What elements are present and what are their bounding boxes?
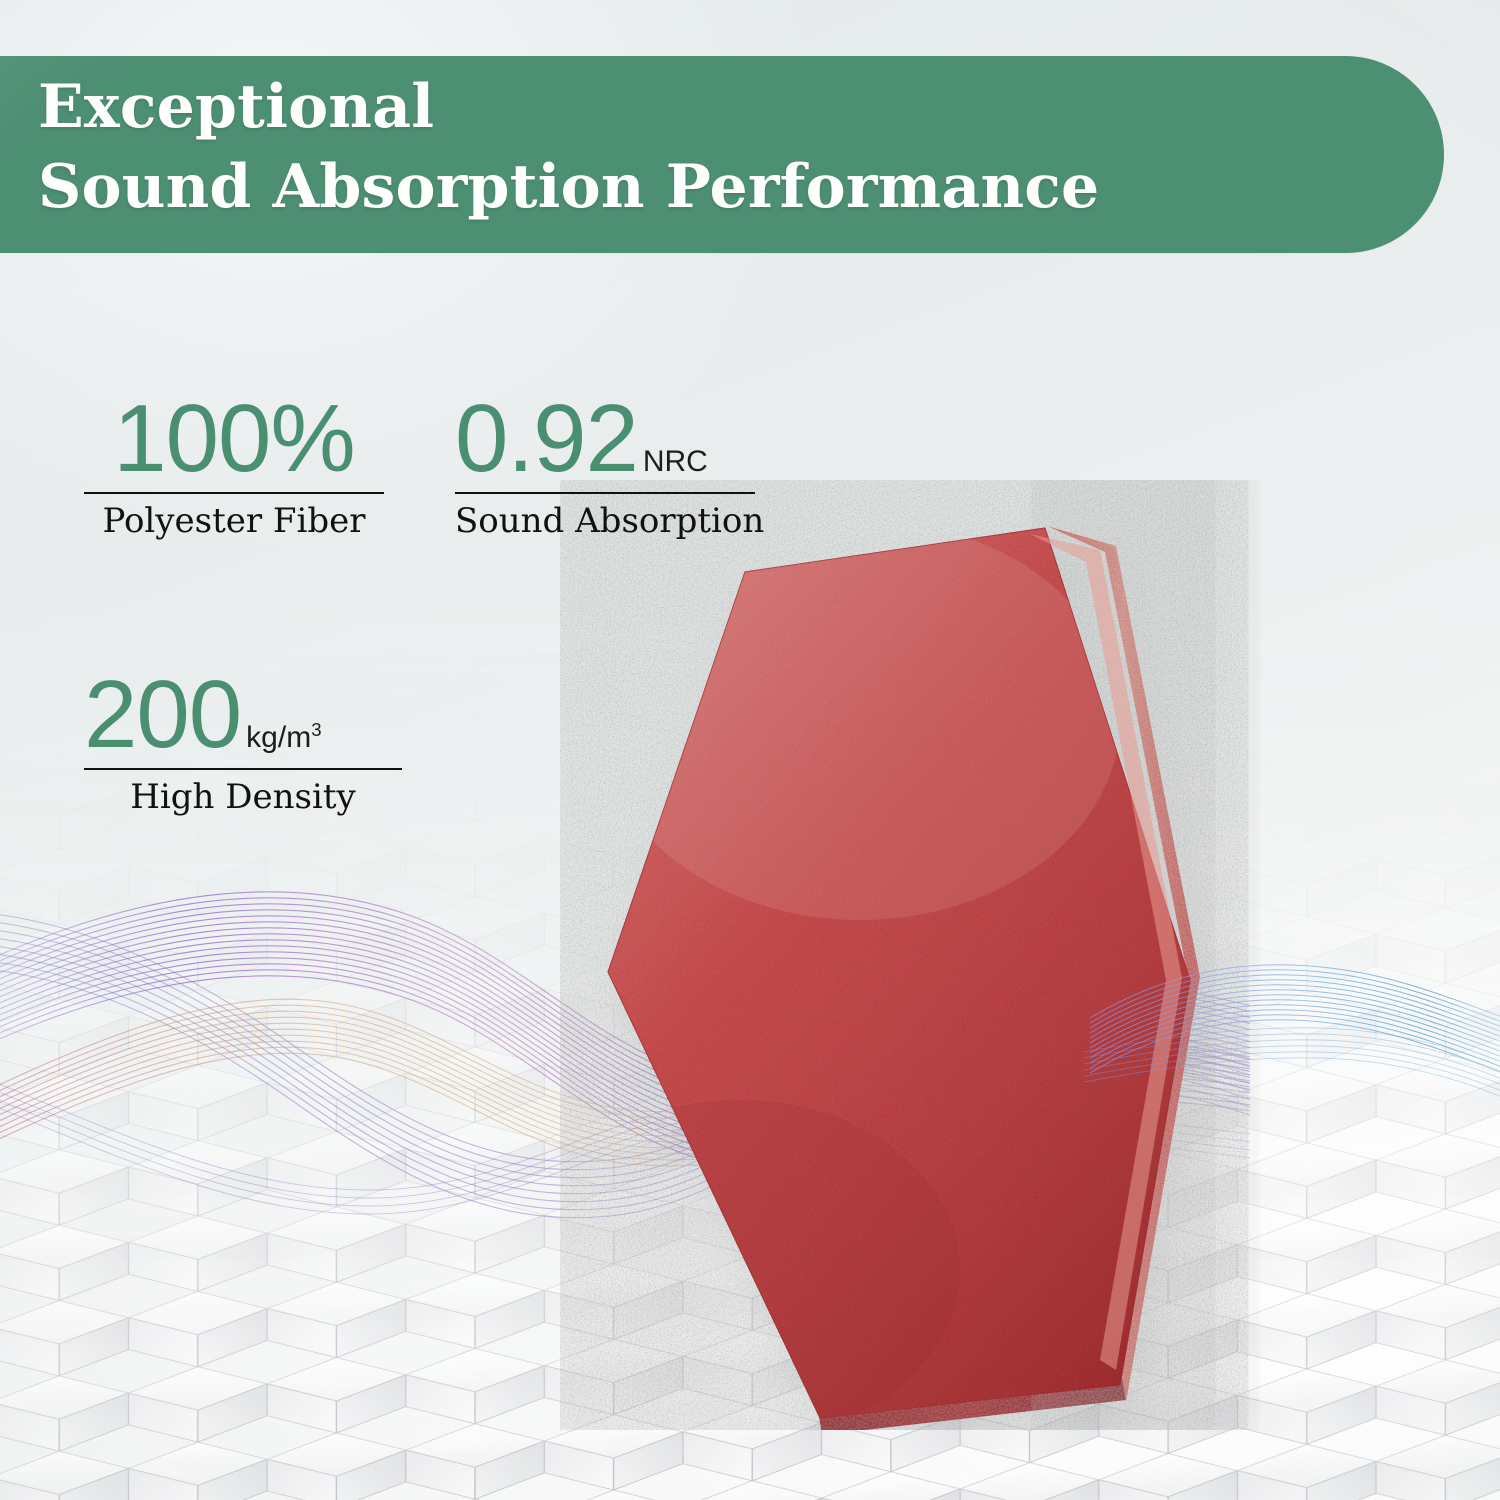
stat-unit: kg/m3 — [241, 723, 321, 753]
stat-value: 100% — [113, 392, 355, 486]
stat-unit-exponent: 3 — [311, 719, 321, 740]
stat-value-row: 0.92 NRC — [455, 392, 755, 486]
product-feature-graphic: Exceptional Sound Absorption Performance… — [0, 0, 1500, 1500]
stat-value-row: 200 kg/m3 — [84, 668, 402, 762]
stat-block-sound-absorption: 0.92 NRC Sound Absorption — [455, 392, 755, 544]
stat-label: High Density — [84, 770, 402, 820]
stat-unit: NRC — [638, 447, 708, 477]
stat-label: Sound Absorption — [455, 494, 755, 544]
stat-label: Polyester Fiber — [84, 494, 384, 544]
headline-banner: Exceptional Sound Absorption Performance — [0, 56, 1444, 253]
stat-unit-base: kg/m — [246, 721, 311, 754]
stat-value: 200 — [84, 668, 241, 762]
stat-block-polyester-fiber: 100% Polyester Fiber — [84, 392, 384, 544]
stat-value-row: 100% — [84, 392, 384, 486]
stat-block-high-density: 200 kg/m3 High Density — [84, 668, 402, 820]
headline-text: Exceptional Sound Absorption Performance — [38, 68, 1378, 228]
stat-value: 0.92 — [455, 392, 638, 486]
